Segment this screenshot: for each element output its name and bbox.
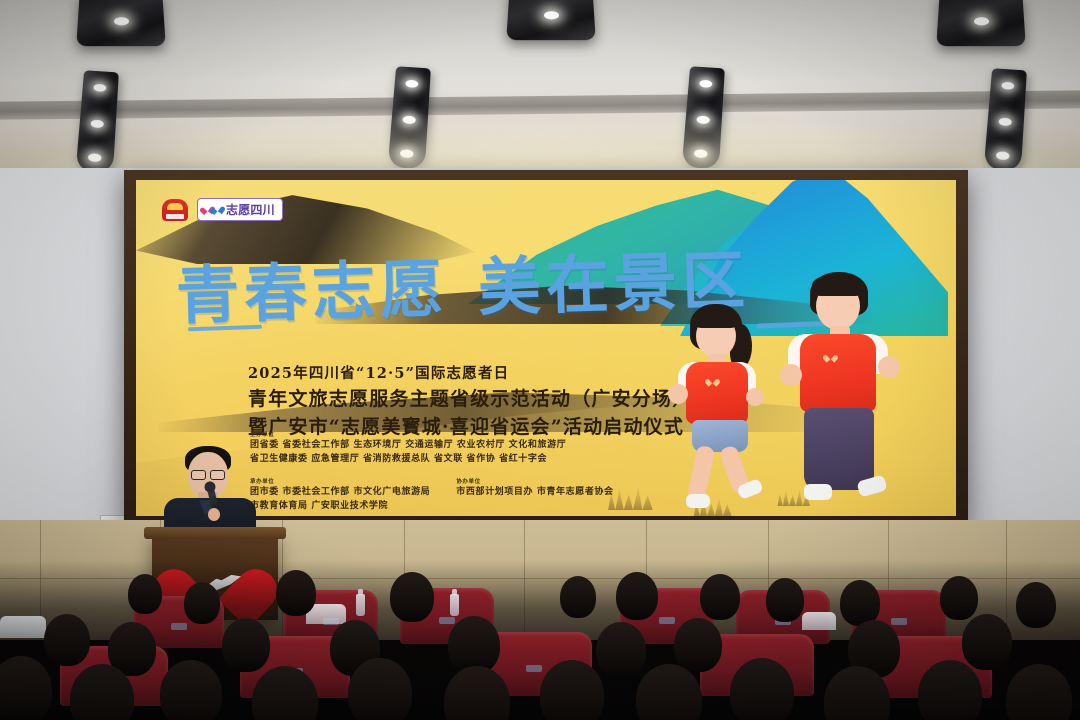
coorganizer-caption: 协办单位	[456, 477, 613, 485]
attendee-head	[636, 664, 702, 720]
podium-top	[144, 527, 286, 539]
glasses-icon	[191, 470, 225, 478]
attendee-head	[700, 574, 740, 620]
attendee-head	[918, 660, 982, 720]
ceiling	[0, 0, 1080, 172]
attendee-head	[348, 658, 412, 720]
water-bottle	[450, 594, 459, 616]
attendee-head	[940, 576, 978, 620]
ceiling-spot-light-icon	[506, 0, 596, 40]
conference-hall-photo: 志愿四川 青春志愿美在景区 2025年四川省“12·5”国际志愿者日 青年文旅志…	[0, 0, 1080, 720]
attendee-head	[1006, 664, 1072, 720]
ceiling-spot-light-icon	[936, 0, 1026, 46]
attendee-head	[160, 660, 222, 720]
volunteer-badge-label: 志愿四川	[226, 204, 275, 216]
attendee-head	[128, 574, 162, 614]
attendee-head	[616, 572, 658, 620]
attendee-head	[222, 618, 270, 672]
volunteer-sichuan-badge: 志愿四川	[197, 198, 283, 221]
attendee-head	[390, 572, 434, 622]
attendee-head	[596, 622, 646, 678]
attendee-head	[0, 656, 52, 720]
attendee-head	[184, 582, 220, 624]
communist-youth-league-emblem-icon	[162, 199, 188, 221]
ceiling-spot-light-icon	[76, 0, 166, 46]
ceiling-glow	[0, 112, 1080, 174]
water-bottle	[356, 594, 365, 616]
attendee-head	[674, 618, 722, 672]
banner-logos: 志愿四川	[162, 198, 283, 221]
attendee-head	[962, 614, 1012, 670]
attendee-head	[730, 658, 794, 720]
attendee-head	[766, 578, 804, 622]
attendee-shirt	[0, 616, 46, 638]
attendee-head	[1016, 582, 1056, 628]
audience-area	[0, 560, 1080, 720]
mountain-ink-ridge	[136, 180, 476, 264]
attendee-shirt	[802, 612, 836, 630]
coorganizer-block: 协办单位 市西部计划项目办 市青年志愿者协会	[456, 477, 613, 514]
attendee-head	[44, 614, 90, 666]
speaker-hand	[208, 508, 220, 521]
attendee-head	[560, 576, 596, 618]
attendee-head	[540, 660, 604, 720]
attendee-head	[276, 570, 316, 616]
male-volunteer-runner	[766, 272, 938, 516]
heart-icon	[203, 206, 222, 214]
coorganizer-line-1: 市西部计划项目办 市青年志愿者协会	[456, 486, 613, 500]
headline-part1: 青春志愿	[175, 252, 449, 333]
